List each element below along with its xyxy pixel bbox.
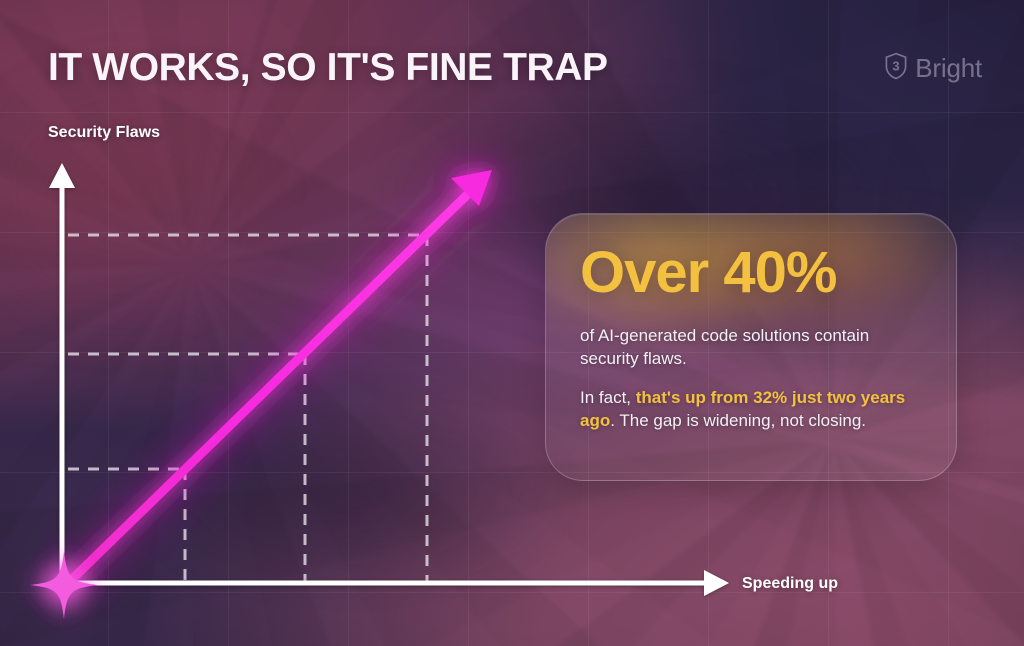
stat-context-suffix: . The gap is widening, not closing.: [610, 411, 866, 430]
stat-description: of AI-generated code solutions contain s…: [580, 324, 922, 371]
y-axis-label: Security Flaws: [48, 124, 160, 142]
x-axis-label: Speeding up: [742, 575, 838, 593]
infographic-canvas: IT WORKS, SO IT'S FINE TRAP 3 Bright: [0, 0, 1024, 646]
stat-context-prefix: In fact,: [580, 388, 636, 407]
stat-context: In fact, that's up from 32% just two yea…: [580, 386, 922, 433]
stat-headline: Over 40%: [580, 244, 922, 302]
stat-card-body: of AI-generated code solutions contain s…: [580, 324, 922, 433]
stat-card: Over 40% of AI-generated code solutions …: [545, 213, 957, 481]
